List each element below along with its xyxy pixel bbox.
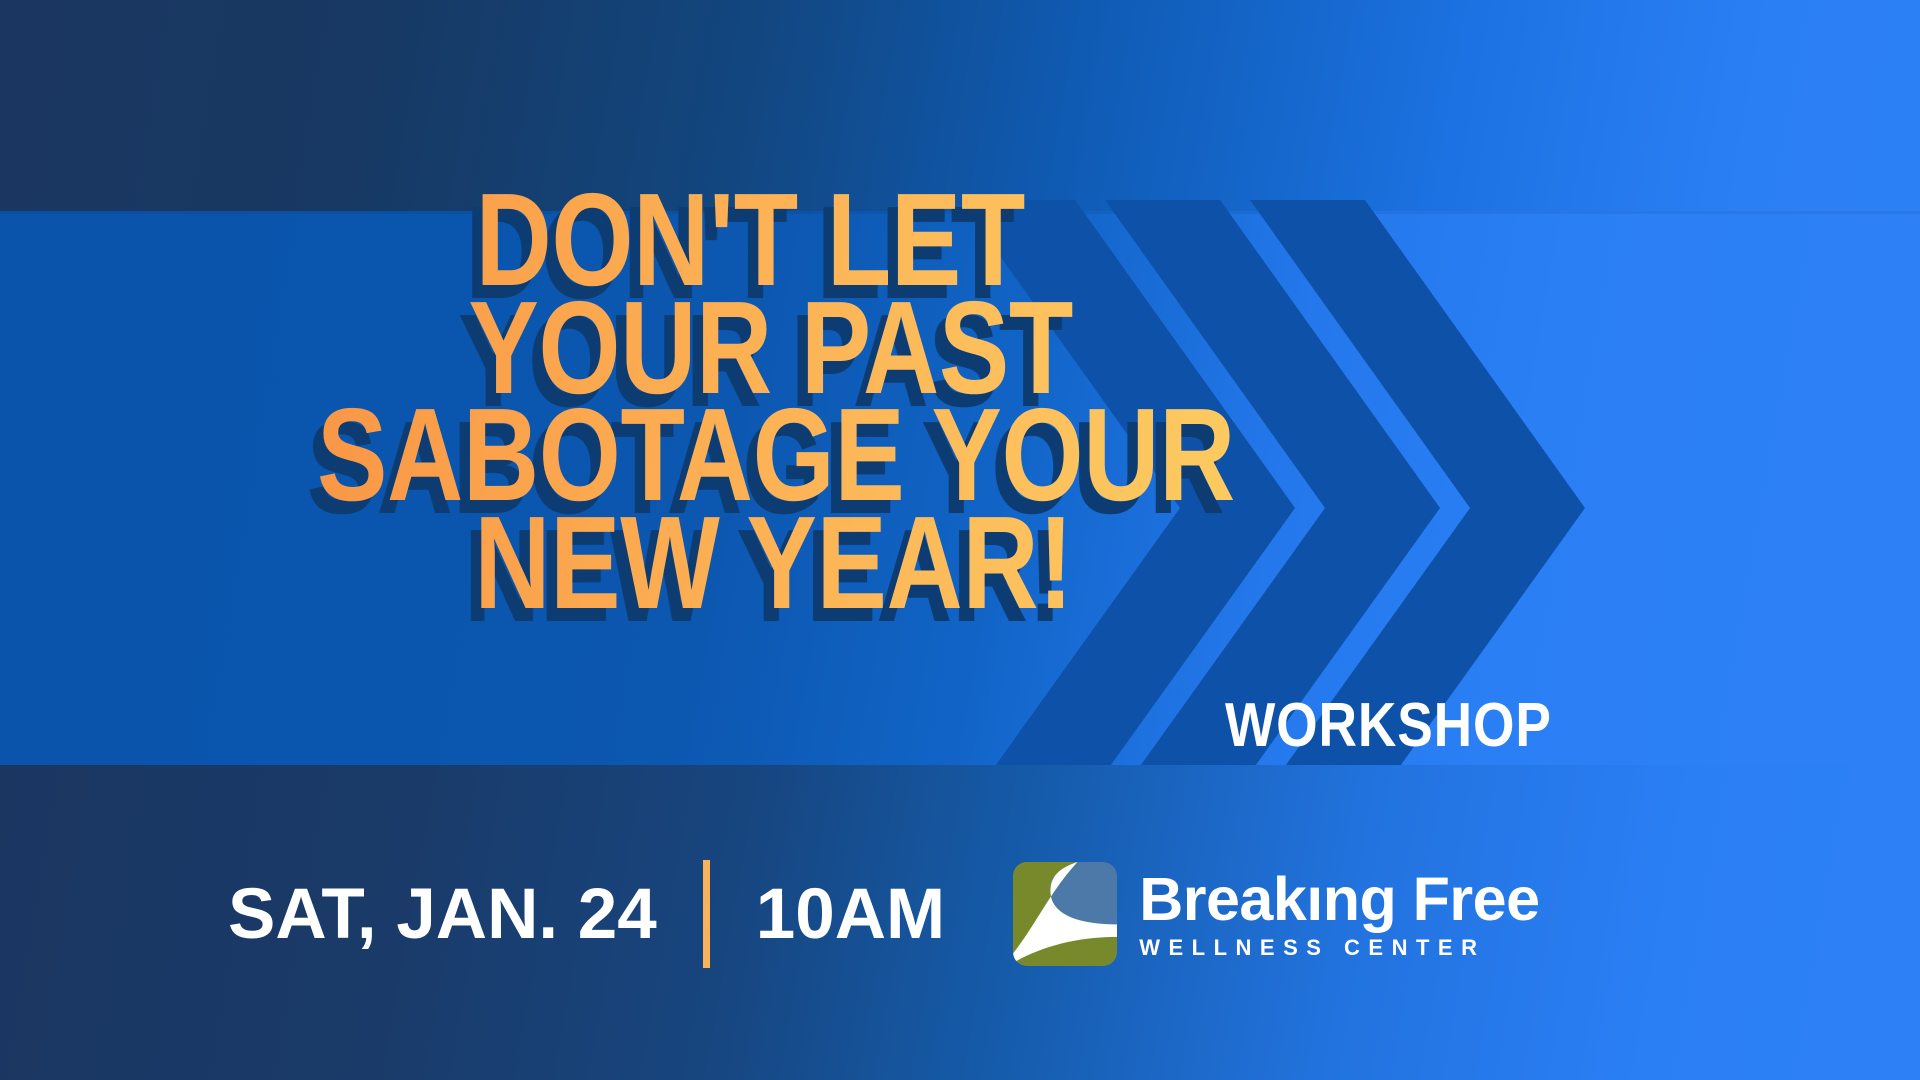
brand-tagline: WELLNESS CENTER	[1139, 935, 1539, 961]
headline-line-4: NEW YEAR!	[317, 509, 1585, 617]
brand-name: Breakıng Free	[1139, 868, 1539, 930]
event-date: SAT, JAN. 24	[228, 874, 657, 955]
date-time-divider	[703, 860, 710, 968]
brand-logo: Breakıng Free WELLNESS CENTER	[1013, 862, 1539, 966]
open-book-swoosh-icon	[1013, 862, 1117, 966]
workshop-kicker: WORKSHOP	[1225, 690, 1552, 761]
event-info-bar: SAT, JAN. 24 10AM	[0, 765, 1920, 1080]
headline-block: DON'T LET YOUR PAST SABOTAGE YOUR NEW YE…	[0, 186, 1585, 616]
brand-wordmark: Breakıng Free WELLNESS CENTER	[1139, 868, 1539, 961]
event-time: 10AM	[756, 874, 945, 955]
promo-banner: DON'T LET YOUR PAST SABOTAGE YOUR NEW YE…	[0, 0, 1920, 1080]
